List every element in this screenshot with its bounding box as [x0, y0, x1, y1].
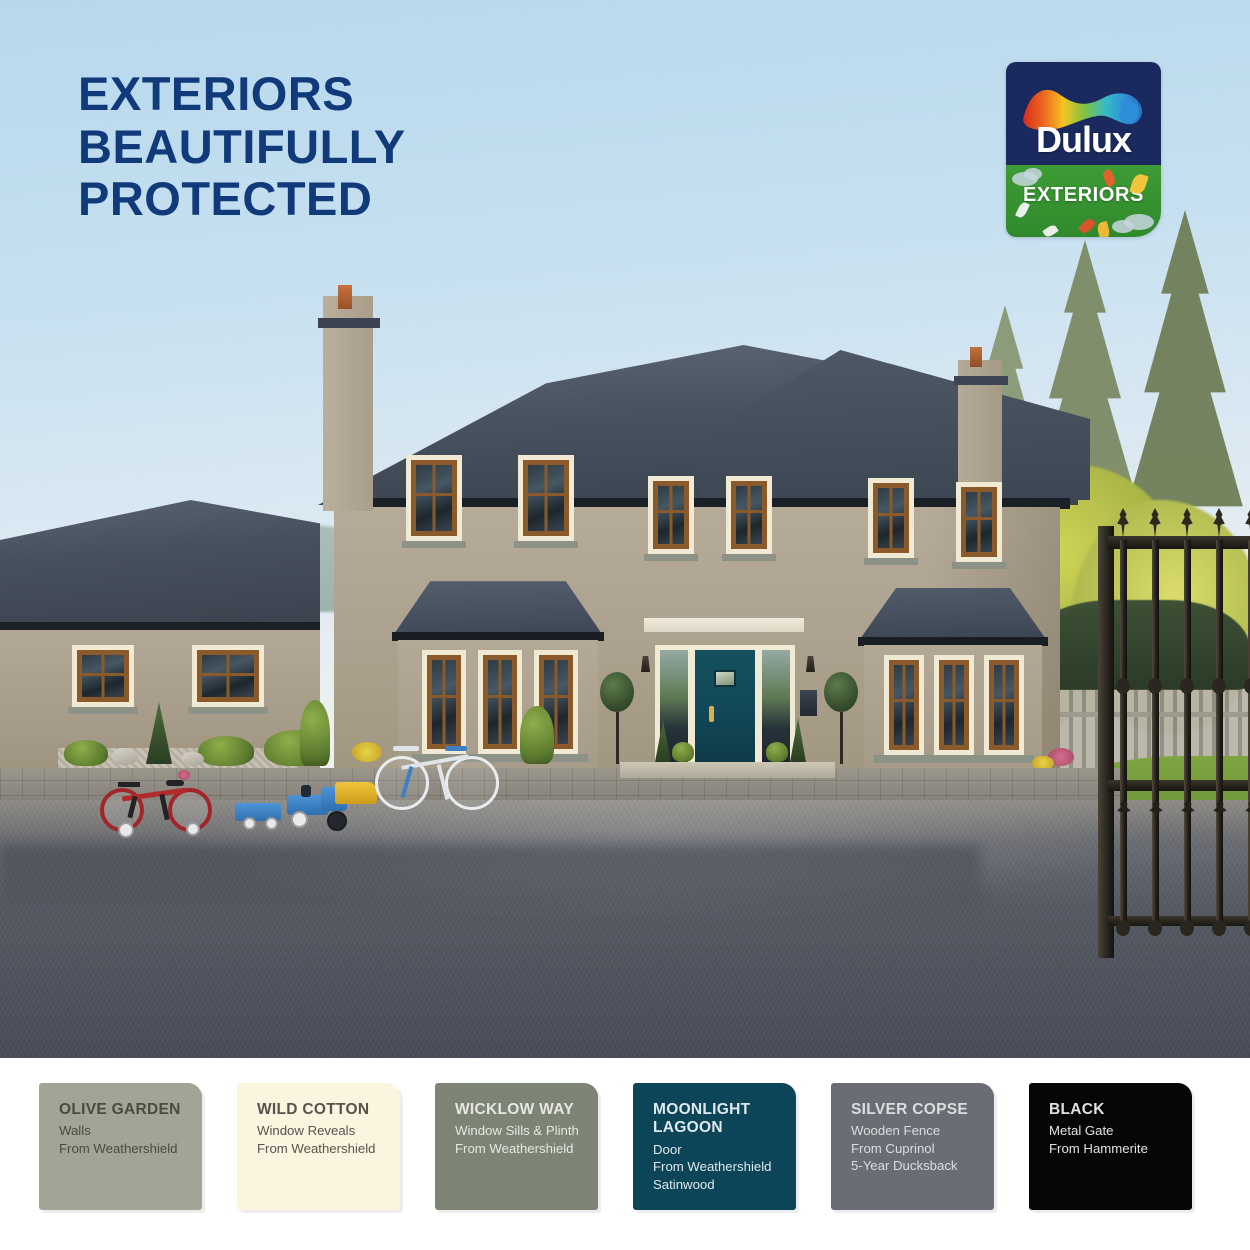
fleur-de-lis-finial-icon: [1147, 508, 1163, 538]
swatch-product: From Weathershield: [653, 1158, 784, 1176]
window-sill: [722, 554, 776, 561]
tractor-wheel: [291, 811, 308, 828]
swatch-name: WICKLOW WAY: [455, 1101, 586, 1119]
swatch-usage: Window Reveals: [257, 1122, 388, 1140]
chimney-pot-icon: [970, 347, 982, 367]
gate-collar: [1244, 678, 1250, 694]
trailer-wheel: [265, 817, 278, 830]
swatch-black[interactable]: BLACK Metal Gate From Hammerite: [1029, 1083, 1192, 1210]
topiary-ball-left: [600, 672, 634, 712]
training-wheel: [118, 822, 134, 838]
fleur-de-lis-ornament-icon: [1211, 798, 1229, 824]
fleur-de-lis-ornament-icon: [1115, 798, 1133, 824]
swatch-name: OLIVE GARDEN: [59, 1101, 190, 1119]
low-shrub: [64, 740, 108, 766]
bay-window-right-2: [934, 655, 974, 755]
gate-collar: [1180, 920, 1194, 936]
gate-bar: [1184, 540, 1191, 932]
decorative-rock: [182, 752, 204, 766]
climbing-plant: [520, 706, 554, 764]
gate-collar: [1116, 920, 1130, 936]
gate-collar: [1180, 678, 1194, 694]
fleur-de-lis-finial-icon: [1243, 508, 1250, 538]
gate-collar: [1116, 678, 1130, 694]
tractor-wheel: [327, 811, 347, 831]
mailbox-icon: [800, 690, 817, 716]
swatch-name: BLACK: [1049, 1101, 1180, 1119]
trailer-wheel: [243, 817, 256, 830]
door-glass-panel: [714, 670, 736, 687]
chimney-left: [323, 296, 373, 511]
porch-canopy: [644, 618, 804, 632]
door-handle-icon: [709, 706, 714, 722]
upper-window-6: [956, 482, 1002, 562]
chimney-cap: [318, 318, 380, 328]
bay-window-left-1: [422, 650, 466, 754]
decorative-rock: [112, 748, 138, 765]
swatch-olive-garden[interactable]: OLIVE GARDEN Walls From Weathershield: [39, 1083, 202, 1210]
gate-bar: [1216, 540, 1223, 932]
swatch-product: From Weathershield: [59, 1140, 190, 1158]
swatch-silver-copse[interactable]: SILVER COPSE Wooden Fence From Cuprinol …: [831, 1083, 994, 1210]
bay-sill-right: [874, 755, 1034, 763]
swatch-wicklow-way[interactable]: WICKLOW WAY Window Sills & Plinth From W…: [435, 1083, 598, 1210]
gate-bar: [1120, 540, 1127, 932]
swatch-product: From Hammerite: [1049, 1140, 1180, 1158]
window-sill: [514, 541, 578, 548]
window-sill: [188, 707, 268, 714]
house-photograph: EXTERIORS BEAUTIFULLY PROTECTED: [0, 0, 1250, 1058]
swatch-usage: Walls: [59, 1122, 190, 1140]
swatch-product: From Cuprinol: [851, 1140, 982, 1158]
advert-page: EXTERIORS BEAUTIFULLY PROTECTED: [0, 0, 1250, 1250]
planter-shrub: [672, 742, 694, 762]
fleur-de-lis-finial-icon: [1179, 508, 1195, 538]
swatch-wild-cotton[interactable]: WILD COTTON Window Reveals From Weathers…: [237, 1083, 400, 1210]
cloud-icon: [1024, 168, 1042, 180]
topiary-ball-right: [824, 672, 858, 712]
gate-middle-rail: [1108, 780, 1250, 791]
window-sill: [644, 554, 698, 561]
headline-line-2: BEAUTIFULLY: [78, 121, 638, 174]
training-wheel: [186, 822, 200, 836]
fleur-de-lis-ornament-icon: [1179, 798, 1197, 824]
fleur-de-lis-ornament-icon: [1147, 798, 1165, 824]
headline-line-1: EXTERIORS: [78, 68, 638, 121]
gate-collar: [1212, 678, 1226, 694]
bike-saddle: [166, 780, 184, 786]
bay-window-left-2: [478, 650, 522, 754]
gate-collar: [1148, 678, 1162, 694]
upper-window-3: [648, 476, 694, 554]
swatch-moonlight-lagoon[interactable]: MOONLIGHT LAGOON Door From Weathershield…: [633, 1083, 796, 1210]
upper-window-5: [868, 478, 914, 558]
gate-bar: [1152, 540, 1159, 932]
swatch-product: From Weathershield: [257, 1140, 388, 1158]
bike-decoration: [178, 770, 190, 780]
logo-brand-text: Dulux: [1006, 122, 1161, 158]
swatch-usage: Door: [653, 1141, 784, 1159]
upper-window-4: [726, 476, 772, 554]
door-step: [620, 762, 835, 778]
bay-window-right-1: [884, 655, 924, 755]
swatch-finish: Satinwood: [653, 1176, 784, 1194]
driveway-shadow: [0, 845, 980, 915]
tractor-seat: [301, 785, 311, 797]
bike-handlebar: [118, 782, 140, 787]
cloud-icon: [1112, 220, 1134, 233]
gate-collar: [1212, 920, 1226, 936]
wing-roof: [0, 500, 320, 630]
swatch-usage: Metal Gate: [1049, 1122, 1180, 1140]
gate-collar: [1148, 920, 1162, 936]
topiary-stem: [840, 712, 843, 764]
childrens-bicycle: [100, 778, 220, 838]
gate-collar: [1244, 920, 1250, 936]
window-sill: [402, 541, 466, 548]
front-door: [695, 650, 755, 762]
road-bike-handlebar: [393, 746, 419, 751]
bay-window-right-3: [984, 655, 1024, 755]
window-sill: [952, 562, 1006, 569]
swatch-finish: 5-Year Ducksback: [851, 1157, 982, 1175]
yellow-toy-digger: [335, 782, 377, 804]
gate-top-rail: [1108, 536, 1250, 549]
road-bicycle: [375, 740, 505, 810]
window-sill: [864, 558, 918, 565]
fleur-de-lis-finial-icon: [1211, 508, 1227, 538]
planter-shrub: [766, 742, 788, 762]
low-shrub: [198, 736, 254, 766]
metal-gate: [1098, 508, 1250, 960]
road-bike-saddle: [445, 746, 467, 751]
swatch-product: From Weathershield: [455, 1140, 586, 1158]
swatch-name: MOONLIGHT LAGOON: [653, 1101, 784, 1138]
wing-window-left: [72, 645, 134, 707]
tall-shrub: [300, 700, 330, 766]
headline: EXTERIORS BEAUTIFULLY PROTECTED: [78, 68, 638, 226]
upper-window-2: [518, 455, 574, 541]
swatch-name: SILVER COPSE: [851, 1101, 982, 1119]
swatch-usage: Wooden Fence: [851, 1122, 982, 1140]
headline-line-3: PROTECTED: [78, 173, 638, 226]
road-bike-wheel: [445, 756, 499, 810]
gate-post: [1098, 526, 1114, 958]
colour-swatch-strip: OLIVE GARDEN Walls From Weathershield WI…: [0, 1058, 1250, 1250]
chimney-pot-icon: [338, 285, 352, 309]
fleur-de-lis-finial-icon: [1115, 508, 1131, 538]
tarmac-texture: [0, 800, 1250, 1058]
upper-window-1: [406, 455, 462, 541]
chimney-cap: [954, 376, 1008, 385]
topiary-stem: [616, 712, 619, 764]
dulux-exteriors-logo[interactable]: Dulux EXTERIORS: [1006, 62, 1161, 237]
swatch-name: WILD COTTON: [257, 1101, 388, 1119]
wing-window-right: [192, 645, 264, 707]
swatch-usage: Window Sills & Plinth: [455, 1122, 586, 1140]
window-sill: [68, 707, 138, 714]
